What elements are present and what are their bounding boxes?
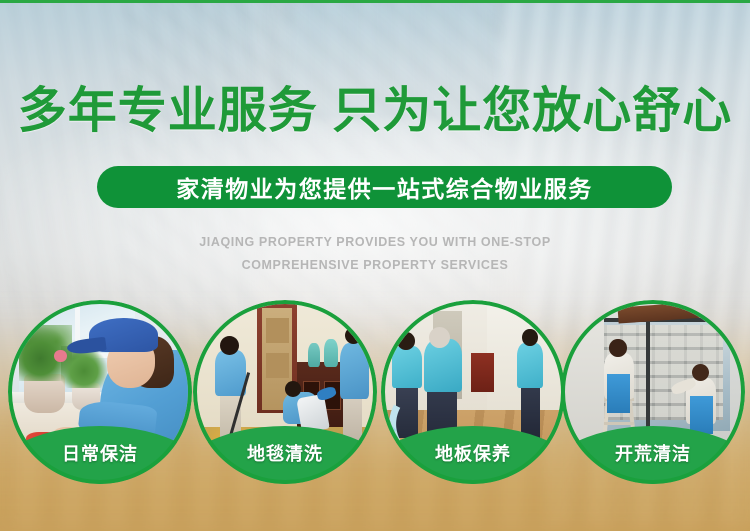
service-circle-carpet-washing[interactable]: 地毯清洗: [193, 300, 377, 484]
page-title: 多年专业服务 只为让您放心舒心: [0, 84, 750, 138]
promo-banner: 多年专业服务 只为让您放心舒心 家清物业为您提供一站式综合物业服务 JIAQIN…: [0, 0, 750, 531]
service-circle-floor-care[interactable]: 地板保养: [381, 300, 565, 484]
top-accent-rule: [0, 0, 750, 3]
tagline-text: 家清物业为您提供一站式综合物业服务: [176, 170, 593, 204]
service-label-floor-care: 地板保养: [435, 440, 511, 466]
service-circle-rough-cleaning[interactable]: 开荒清洁: [561, 300, 745, 484]
service-label-daily-cleaning: 日常保洁: [62, 440, 138, 466]
service-label-rough-cleaning: 开荒清洁: [615, 440, 691, 466]
english-subtitle: JIAQING PROPERTY PROVIDES YOU WITH ONE-S…: [0, 231, 750, 277]
tagline-banner: 家清物业为您提供一站式综合物业服务: [97, 166, 672, 208]
service-circle-daily-cleaning[interactable]: 日常保洁: [8, 300, 192, 484]
english-subtitle-line2: COMPREHENSIVE PROPERTY SERVICES: [0, 254, 750, 277]
service-label-carpet-washing: 地毯清洗: [247, 440, 323, 466]
english-subtitle-line1: JIAQING PROPERTY PROVIDES YOU WITH ONE-S…: [0, 231, 750, 254]
service-circle-row: 日常保洁: [0, 300, 750, 490]
